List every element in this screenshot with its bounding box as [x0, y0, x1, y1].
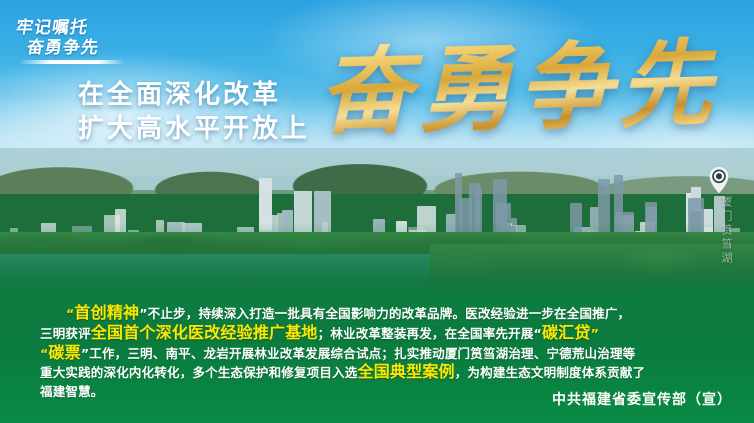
gold-calligraphy-title: 奋勇争先 [317, 31, 719, 147]
body-text-2a: 三明获评 [40, 326, 91, 341]
publisher-signature: 中共福建省委宣传部（宣） [552, 389, 732, 409]
campaign-logo-line1: 牢记嘱托 [14, 18, 133, 38]
body-text-3: ”工作，三明、南平、龙岩开展林业改革发展综合试点；扎实推动厦门筼筜湖治理、宁德荒… [81, 346, 636, 361]
highlight-dianxing-anli: 全国典型案例 [358, 362, 455, 381]
body-text-4a: 重大实践的深化内化转化，多个生态保护和修复项目入选 [40, 365, 358, 380]
campaign-logo: 牢记嘱托 奋勇争先 [8, 18, 133, 64]
headline: 在全面深化改革 扩大高水平开放上 [78, 78, 310, 146]
headline-line1: 在全面深化改革 [78, 78, 310, 112]
logo-swoosh-decoration [18, 60, 125, 64]
headline-line2: 扩大高水平开放上 [78, 112, 310, 146]
highlight-tanpiao: 碳票 [48, 343, 80, 362]
quote-close-2: ” [591, 326, 599, 341]
location-caption: 厦门筼筜湖 [718, 196, 734, 266]
highlight-tanhuidai: 碳汇贷 [542, 323, 591, 342]
body-text-5: 福建智慧。 [40, 384, 104, 399]
body-text-4b: ，为构建生态文明制度体系贡献了 [455, 365, 646, 380]
poster-root: 牢记嘱托 奋勇争先 在全面深化改革 扩大高水平开放上 奋勇争先 厦门筼筜湖 “首… [0, 0, 754, 423]
highlight-shouchuang-jingshen: 首创精神 [74, 303, 139, 322]
body-text-1: ”不止步，持续深入打造一批具有全国影响力的改革品牌。医改经验进一步在全国推广， [139, 306, 630, 321]
campaign-logo-line2: 奋勇争先 [25, 38, 130, 58]
body-text-2b: ；林业改革整装再发，在全国率先开展“ [318, 326, 542, 341]
map-pin-icon [708, 166, 730, 199]
highlight-yigai-jidi: 全国首个深化医改经验推广基地 [91, 323, 318, 342]
body-paragraph: “首创精神”不止步，持续深入打造一批具有全国影响力的改革品牌。医改经验进一步在全… [40, 304, 730, 402]
